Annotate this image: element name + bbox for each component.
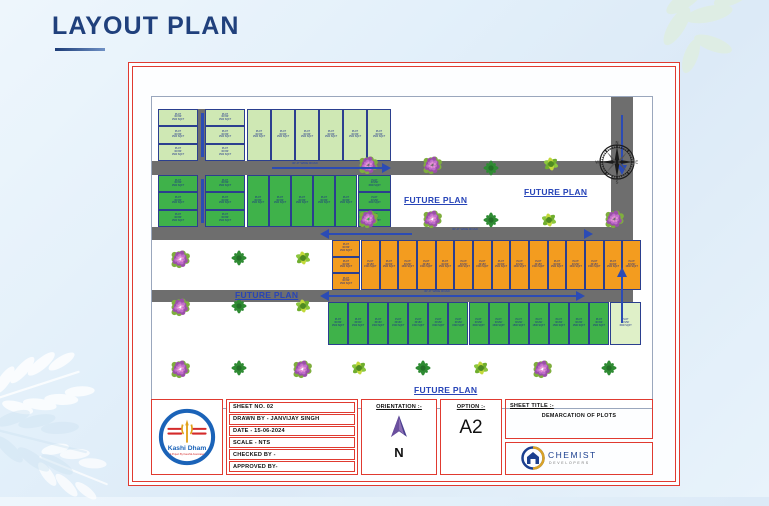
plot-cell: PLOT 30'x50' 1500 SQFT <box>205 175 245 192</box>
plot-cell: PLOT 30'x50' 1500 SQFT <box>332 240 360 257</box>
plot-label: PLOT 30'x50' 1500 SQFT <box>513 261 525 269</box>
plot-label: PLOT 30'x50' 1500 SQFT <box>340 197 352 205</box>
plot-label: PLOT 30'x50' 1500 SQFT <box>420 261 432 269</box>
dimension-arrow-vertical-right-lower <box>621 275 623 323</box>
palm-icon <box>414 359 432 382</box>
north-letter: N <box>394 445 403 460</box>
flower-bush-icon <box>604 209 624 234</box>
flower-bush-icon <box>170 249 190 274</box>
svg-text:N: N <box>616 140 619 145</box>
plot-cell: PLOT 30'x50' 1500 SQFT <box>158 144 198 161</box>
plot-label: PLOT 30'x50' 1500 SQFT <box>172 197 184 205</box>
plot-label: PLOT 30'x50' 1500 SQFT <box>274 197 286 205</box>
palm-icon <box>230 297 248 320</box>
future-plan-label: FUTURE PLAN <box>414 385 477 395</box>
dimension-arrow-upper-road <box>272 167 384 169</box>
plot-label: PLOT 30'x50' 1500 SQFT <box>588 261 600 269</box>
plot-cell: PLOT 30'x50' 1500 SQFT <box>492 240 511 290</box>
svg-text:Kashi Dham: Kashi Dham <box>168 445 207 452</box>
plot-cell: PLOT 30'x50' 1500 SQFT <box>622 240 641 290</box>
plot-label: PLOT 30'x50' 1500 SQFT <box>172 131 184 139</box>
maple-icon <box>294 249 312 272</box>
plot-cell: PLOT 30'x50' 1500 SQFT <box>158 175 198 192</box>
plot-cell: PLOT 30'x50' 1500 SQFT <box>454 240 473 290</box>
plot-label: PLOT 30'x50' 1500 SQFT <box>625 261 637 269</box>
plot-label: PLOT 30'x50' 1500 SQFT <box>219 148 231 156</box>
plot-label: PLOT 30'x50' 1500 SQFT <box>551 261 563 269</box>
plot-cell: PLOT 30'x50' 1500 SQFT <box>313 175 335 227</box>
plot-cell: PLOT 30'x50' 1500 SQFT <box>569 302 589 345</box>
plot-label: PLOT 30'x50' 1500 SQFT <box>172 180 184 188</box>
flower-bush-icon <box>358 209 378 234</box>
svg-text:E: E <box>635 159 638 164</box>
plot-label: PLOT 30'x50' 1500 SQFT <box>532 261 544 269</box>
palm-icon <box>230 359 248 382</box>
plot-label: PLOT 30'x50' 1500 SQFT <box>392 319 404 327</box>
plot-cell: PLOT 30'x50' 1500 SQFT <box>328 302 348 345</box>
drawn-by-row: DRAWN BY - JANVIJAY SINGH <box>229 414 355 425</box>
title-block: Kashi Dham A Project By Kaushik Associat… <box>151 399 653 475</box>
future-plan-label: FUTURE PLAN <box>235 290 298 300</box>
road-dimension-label-mid: 30'-0" WIDE ROAD <box>424 289 450 293</box>
dimension-arrow-vertical-left-b <box>201 179 204 223</box>
option-cell: OPTION :- A2 <box>440 399 502 475</box>
plot-label: PLOT 30'x50' 1500 SQFT <box>219 114 231 122</box>
title-block-right-column: SHEET TITLE :- DEMARCATION OF PLOTS CHEM… <box>505 399 653 475</box>
plot-label: PLOT 30'x50' 1500 SQFT <box>352 319 364 327</box>
plot-label: PLOT 30'x50' 1500 SQFT <box>533 319 545 327</box>
plot-cell: PLOT 30'x50' 1500 SQFT <box>428 302 448 345</box>
plot-cell: PLOT 30'x50' 1500 SQFT <box>205 144 245 161</box>
plot-cell: PLOT 30'x50' 1500 SQFT <box>291 175 313 227</box>
option-heading: OPTION :- <box>457 404 486 410</box>
plot-label: PLOT 30'x50' 1500 SQFT <box>439 261 451 269</box>
plot-label: PLOT 30'x50' 1500 SQFT <box>476 261 488 269</box>
plot-label: PLOT 30'x50' 1500 SQFT <box>512 319 524 327</box>
plot-cell: PLOT 30'x50' 1500 SQFT <box>205 210 245 227</box>
plot-label: PLOT 30'x50' 1500 SQFT <box>553 319 565 327</box>
plot-cell: PLOT 30'x50' 1500 SQFT <box>510 240 529 290</box>
plot-cell: PLOT 30'x50' 1500 SQFT <box>489 302 509 345</box>
dimension-arrow-lower-left <box>328 233 412 235</box>
plot-cell: PLOT 30'x50' 1500 SQFT <box>566 240 585 290</box>
plot-label: PLOT 30'x50' 1500 SQFT <box>277 131 289 139</box>
plot-cell: PLOT 30'x50' 1500 SQFT <box>398 240 417 290</box>
plot-cell: PLOT 30'x50' 1500 SQFT <box>529 302 549 345</box>
dimension-arrowhead-up <box>617 267 627 277</box>
plot-label: PLOT 30'x50' 1500 SQFT <box>332 319 344 327</box>
plot-cell: PLOT 30'x50' 1500 SQFT <box>269 175 291 227</box>
plot-cell: PLOT 30'x50' 1500 SQFT <box>388 302 408 345</box>
plot-cell: PLOT 30'x50' 1500 SQFT <box>361 240 380 290</box>
plot-cell: PLOT 30'x50' 1500 SQFT <box>247 109 271 161</box>
plot-label: PLOT 30'x50' 1500 SQFT <box>325 131 337 139</box>
plot-cell: PLOT 30'x50' 1500 SQFT <box>509 302 529 345</box>
plot-label: PLOT 30'x50' 1500 SQFT <box>373 131 385 139</box>
maple-icon <box>294 297 312 320</box>
plot-label: PLOT 30'x50' 1500 SQFT <box>372 319 384 327</box>
plot-label: PLOT 30'x50' 1500 SQFT <box>340 244 352 252</box>
flower-bush-icon <box>170 297 190 322</box>
plot-cell: PLOT 30'x50' 1500 SQFT <box>610 302 641 345</box>
plot-label: PLOT 30'x50' 1500 SQFT <box>219 197 231 205</box>
plot-label: PLOT 30'x50' 1500 SQFT <box>219 131 231 139</box>
sheet-title-value: DEMARCATION OF PLOTS <box>542 413 616 419</box>
svg-text:A Project By Kaushik Associate: A Project By Kaushik Associates <box>170 453 206 456</box>
dimension-arrow-mid-road <box>328 295 578 297</box>
flower-bush-icon <box>292 359 312 384</box>
site-plan-drawing: PLOT 30'x50' 1500 SQFTPLOT 30'x50' 1500 … <box>151 96 653 409</box>
drawing-sheet: PLOT 30'x50' 1500 SQFTPLOT 30'x50' 1500 … <box>128 62 680 486</box>
plot-cell: PLOT 30'x50' 1500 SQFT <box>417 240 436 290</box>
road-dimension-label-upper: 30'-0" WIDE ROAD <box>292 161 318 165</box>
approved-by-row: APPROVED BY- <box>229 461 355 472</box>
plot-cell: PLOT 30'x50' 1500 SQFT <box>205 192 245 209</box>
plot-cell: PLOT 30'x50' 1500 SQFT <box>585 240 604 290</box>
plot-label: PLOT 30'x50' 1500 SQFT <box>593 319 605 327</box>
date-row: DATE - 15-06-2024 <box>229 426 355 437</box>
plot-cell: PLOT 30'x50' 1500 SQFT <box>589 302 609 345</box>
dimension-arrowhead-mid-left <box>320 291 329 301</box>
dimension-arrowhead-lower-left <box>320 229 329 239</box>
plot-cell: PLOT 30'x50' 1500 SQFT <box>158 109 198 126</box>
plot-cell: PLOT 30'x50' 1500 SQFT <box>205 109 245 126</box>
maple-icon <box>542 155 560 178</box>
plot-cell: PLOT 30'x50' 1500 SQFT <box>368 302 388 345</box>
plot-cell: PLOT 30'x50' 1500 SQFT <box>529 240 548 290</box>
compass-rose: N E S W <box>594 139 640 185</box>
plot-label: PLOT 30'x50' 1500 SQFT <box>368 197 380 205</box>
plot-label: PLOT 30'x50' 1500 SQFT <box>340 278 352 286</box>
checked-by-row: CHECKED BY - <box>229 449 355 460</box>
plot-label: PLOT 30'x50' 1500 SQFT <box>368 180 380 188</box>
palm-icon <box>482 159 500 182</box>
plot-label: PLOT 30'x50' 1500 SQFT <box>219 214 231 222</box>
road-dimension-label-lower: 30'-0" WIDE ROAD <box>452 227 478 231</box>
option-value: A2 <box>459 417 482 439</box>
plot-label: PLOT 30'x50' 1500 SQFT <box>349 131 361 139</box>
plot-label: PLOT 30'x50' 1500 SQFT <box>301 131 313 139</box>
title-underline-rule <box>55 48 105 51</box>
plot-cell: PLOT 30'x50' 1500 SQFT <box>158 126 198 143</box>
plot-cell: PLOT 30'x50' 1500 SQFT <box>332 273 360 290</box>
plot-cell: PLOT 30'x50' 1500 SQFT <box>335 175 357 227</box>
plot-label: PLOT 30'x50' 1500 SQFT <box>172 214 184 222</box>
plot-cell: PLOT 30'x50' 1500 SQFT <box>205 126 245 143</box>
plot-label: PLOT 30'x50' 1500 SQFT <box>383 261 395 269</box>
plot-label: PLOT 30'x50' 1500 SQFT <box>364 261 376 269</box>
svg-text:DEVELOPERS: DEVELOPERS <box>549 461 590 465</box>
plot-label: PLOT 30'x50' 1500 SQFT <box>172 114 184 122</box>
plot-cell: PLOT 30'x50' 1500 SQFT <box>473 240 492 290</box>
dimension-arrowhead-mid-right <box>576 291 585 301</box>
leaf-watermark-bottom-left <box>0 326 138 506</box>
plot-label: PLOT 30'x50' 1500 SQFT <box>492 319 504 327</box>
plot-cell: PLOT 30'x50' 1500 SQFT <box>380 240 399 290</box>
plot-cell: PLOT 30'x50' 1500 SQFT <box>436 240 455 290</box>
scale-row: SCALE - NTS <box>229 437 355 448</box>
plot-cell: PLOT 30'x50' 1500 SQFT <box>158 192 198 209</box>
plot-cell: PLOT 30'x50' 1500 SQFT <box>549 302 569 345</box>
title-block-info-rows: SHEET NO. 02 DRAWN BY - JANVIJAY SINGH D… <box>226 399 358 475</box>
plot-cell: PLOT 30'x50' 1500 SQFT <box>348 302 368 345</box>
plot-label: PLOT 30'x50' 1500 SQFT <box>318 197 330 205</box>
maple-icon <box>350 359 368 382</box>
plot-label: PLOT 30'x50' 1500 SQFT <box>412 319 424 327</box>
dimension-arrowhead-lower-right <box>584 229 593 239</box>
plot-label: PLOT 30'x50' 1500 SQFT <box>219 180 231 188</box>
plot-cell: PLOT 30'x50' 1500 SQFT <box>271 109 295 161</box>
plot-cell: PLOT 30'x50' 1500 SQFT <box>247 175 269 227</box>
plot-cell: PLOT 30'x50' 1500 SQFT <box>358 192 391 209</box>
flower-bush-icon <box>532 359 552 384</box>
plot-cell: PLOT 30'x50' 1500 SQFT <box>408 302 428 345</box>
maple-icon <box>472 359 490 382</box>
future-plan-label: FUTURE PLAN <box>524 187 587 197</box>
orientation-cell: ORIENTATION :- N <box>361 399 437 475</box>
sheet-title-heading: SHEET TITLE :- <box>510 403 648 409</box>
plot-label: PLOT 30'x50' 1500 SQFT <box>401 261 413 269</box>
palm-icon <box>600 359 618 382</box>
plot-label: PLOT 30'x50' 1500 SQFT <box>457 261 469 269</box>
plot-cell: PLOT 30'x50' 1500 SQFT <box>343 109 367 161</box>
dimension-arrowhead-upper-right <box>382 163 391 173</box>
plot-label: PLOT 30'x50' 1500 SQFT <box>340 261 352 269</box>
plot-label: PLOT 30'x50' 1500 SQFT <box>569 261 581 269</box>
flower-bush-icon <box>170 359 190 384</box>
svg-text:W: W <box>595 159 599 164</box>
plot-cell: PLOT 30'x50' 1500 SQFT <box>448 302 468 345</box>
plot-cell: PLOT 30'x50' 1500 SQFT <box>604 240 623 290</box>
flower-bush-icon <box>422 209 442 234</box>
future-plan-label: FUTURE PLAN <box>404 195 467 205</box>
plot-label: PLOT 30'x50' 1500 SQFT <box>252 197 264 205</box>
plot-cell: PLOT 30'x50' 1500 SQFT <box>295 109 319 161</box>
sheet-no-row: SHEET NO. 02 <box>229 402 355 413</box>
plot-cell: PLOT 30'x50' 1500 SQFT <box>548 240 567 290</box>
palm-icon <box>482 211 500 234</box>
plot-cell: PLOT 30'x50' 1500 SQFT <box>332 257 360 274</box>
plot-cell: PLOT 30'x50' 1500 SQFT <box>158 210 198 227</box>
north-arrow-icon <box>382 412 416 446</box>
plot-label: PLOT 30'x50' 1500 SQFT <box>253 131 265 139</box>
plot-cell: PLOT 30'x50' 1500 SQFT <box>469 302 489 345</box>
plot-label: PLOT 30'x50' 1500 SQFT <box>296 197 308 205</box>
flower-bush-icon <box>422 155 442 180</box>
orientation-heading: ORIENTATION :- <box>376 404 422 410</box>
sheet-title-cell: SHEET TITLE :- DEMARCATION OF PLOTS <box>505 399 653 439</box>
page-title: LAYOUT PLAN <box>52 12 240 41</box>
plot-label: PLOT 30'x50' 1500 SQFT <box>452 319 464 327</box>
dimension-arrow-vertical-left-a <box>201 113 204 157</box>
plot-label: PLOT 30'x50' 1500 SQFT <box>495 261 507 269</box>
plot-label: PLOT 30'x50' 1500 SQFT <box>472 319 484 327</box>
plot-label: PLOT 30'x50' 1500 SQFT <box>432 319 444 327</box>
plot-label: PLOT 30'x50' 1500 SQFT <box>172 148 184 156</box>
plot-label: PLOT 30'x50' 1500 SQFT <box>573 319 585 327</box>
kashi-dham-logo: Kashi Dham A Project By Kaushik Associat… <box>151 399 223 475</box>
svg-text:CHEMIST: CHEMIST <box>548 450 597 460</box>
maple-icon <box>540 211 558 234</box>
chemist-developers-logo: CHEMIST DEVELOPERS <box>505 442 653 476</box>
svg-text:S: S <box>616 180 619 185</box>
palm-icon <box>230 249 248 272</box>
plot-cell: PLOT 30'x50' 1500 SQFT <box>319 109 343 161</box>
plot-cell: PLOT 30'x50' 1500 SQFT <box>367 109 391 161</box>
